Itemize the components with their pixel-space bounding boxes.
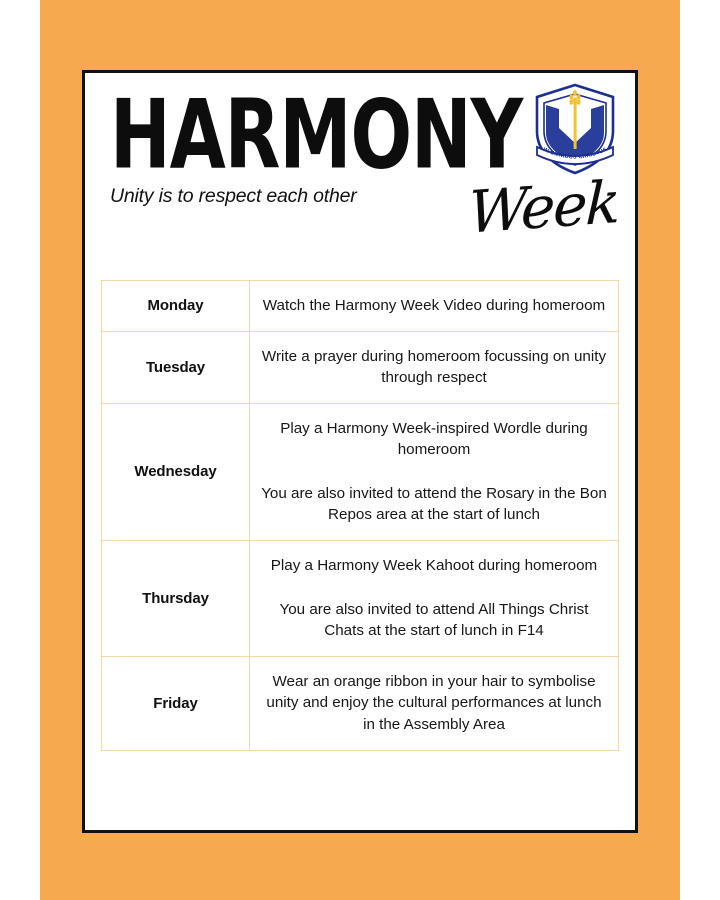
activity-cell: Play a Harmony Week Kahoot during homero…	[250, 541, 619, 657]
poster-tagline: Unity is to respect each other	[110, 185, 357, 208]
day-cell: Wednesday	[102, 403, 250, 540]
table-row: FridayWear an orange ribbon in your hair…	[102, 656, 619, 750]
table-row: TuesdayWrite a prayer during homeroom fo…	[102, 331, 619, 403]
table-row: ThursdayPlay a Harmony Week Kahoot durin…	[102, 541, 619, 657]
day-cell: Monday	[102, 281, 250, 332]
activity-cell: Play a Harmony Week-inspired Wordle duri…	[250, 403, 619, 540]
poster-header: HARMONY Unity is to respect each other	[85, 73, 635, 273]
day-cell: Friday	[102, 656, 250, 750]
activity-text: Write a prayer during homeroom focussing…	[260, 346, 608, 389]
activity-text: You are also invited to attend All Thing…	[260, 599, 608, 642]
activity-cell: Wear an orange ribbon in your hair to sy…	[250, 656, 619, 750]
poster-card: HARMONY Unity is to respect each other	[82, 70, 638, 833]
activity-text: Wear an orange ribbon in your hair to sy…	[260, 671, 608, 736]
table-row: MondayWatch the Harmony Week Video durin…	[102, 281, 619, 332]
activity-text: Play a Harmony Week-inspired Wordle duri…	[260, 418, 608, 461]
day-cell: Tuesday	[102, 331, 250, 403]
schedule-table-body: MondayWatch the Harmony Week Video durin…	[102, 281, 619, 751]
activity-text: Play a Harmony Week Kahoot during homero…	[260, 555, 608, 577]
schedule-table: MondayWatch the Harmony Week Video durin…	[101, 280, 619, 751]
page-title: HARMONY	[110, 91, 470, 178]
activity-text: Watch the Harmony Week Video during home…	[260, 295, 608, 317]
day-cell: Thursday	[102, 541, 250, 657]
table-row: WednesdayPlay a Harmony Week-inspired Wo…	[102, 403, 619, 540]
activity-text: You are also invited to attend the Rosar…	[260, 483, 608, 526]
activity-cell: Write a prayer during homeroom focussing…	[250, 331, 619, 403]
poster-subtitle: Week	[468, 173, 620, 242]
title-block: HARMONY	[110, 91, 450, 161]
school-crest-icon: IN OMNIBUS CHRISTUS	[529, 81, 621, 177]
activity-cell: Watch the Harmony Week Video during home…	[250, 281, 619, 332]
